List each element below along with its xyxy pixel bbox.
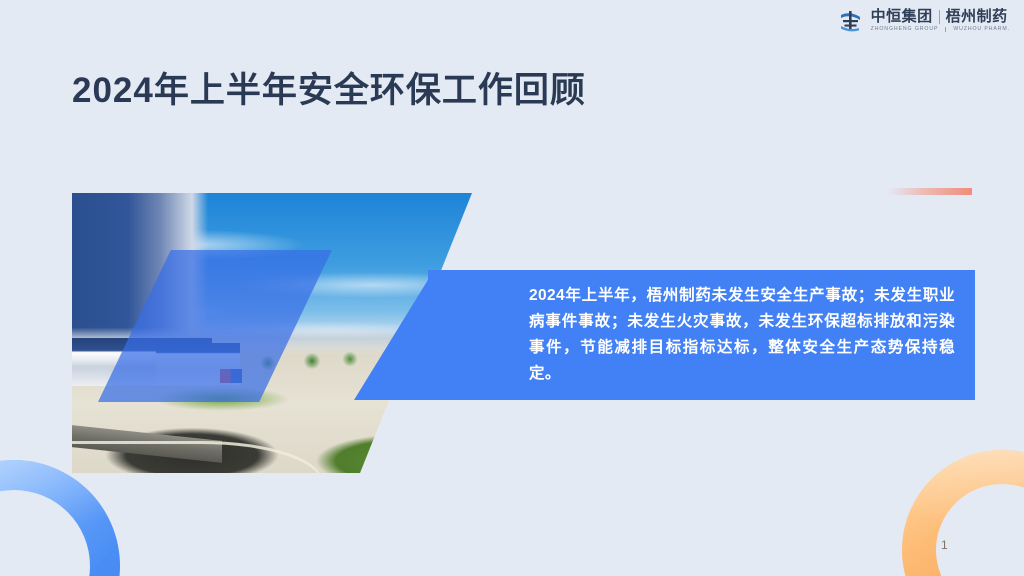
logo-en-right: WUZHOU PHARM. (953, 27, 1010, 32)
accent-bar (887, 188, 972, 195)
logo-cn-right: 梧州制药 (946, 9, 1008, 25)
logo-en-left: ZHONGHENG GROUP (871, 27, 939, 32)
logo-divider-en (945, 27, 946, 32)
logo-divider (939, 10, 940, 24)
decorative-blue-ring-highlight (0, 460, 120, 576)
brand-logo-text: 中恒集团 梧州制药 ZHONGHENG GROUP WUZHOU PHARM. (871, 9, 1010, 32)
summary-callout-text: 2024年上半年，梧州制药未发生安全生产事故；未发生职业病事件事故；未发生火灾事… (529, 283, 955, 387)
decorative-orange-ring-highlight (902, 450, 1024, 576)
brand-logo: 中恒集团 梧州制药 ZHONGHENG GROUP WUZHOU PHARM. (838, 8, 1010, 34)
logo-cn-left: 中恒集团 (871, 9, 933, 25)
page-title: 2024年上半年安全环保工作回顾 (72, 62, 586, 113)
summary-callout-panel: 2024年上半年，梧州制药未发生安全生产事故；未发生职业病事件事故；未发生火灾事… (428, 270, 975, 400)
zhongheng-logo-mark-icon (838, 8, 864, 34)
photo-pond-rim (72, 441, 322, 473)
page-number: 1 (941, 538, 948, 552)
